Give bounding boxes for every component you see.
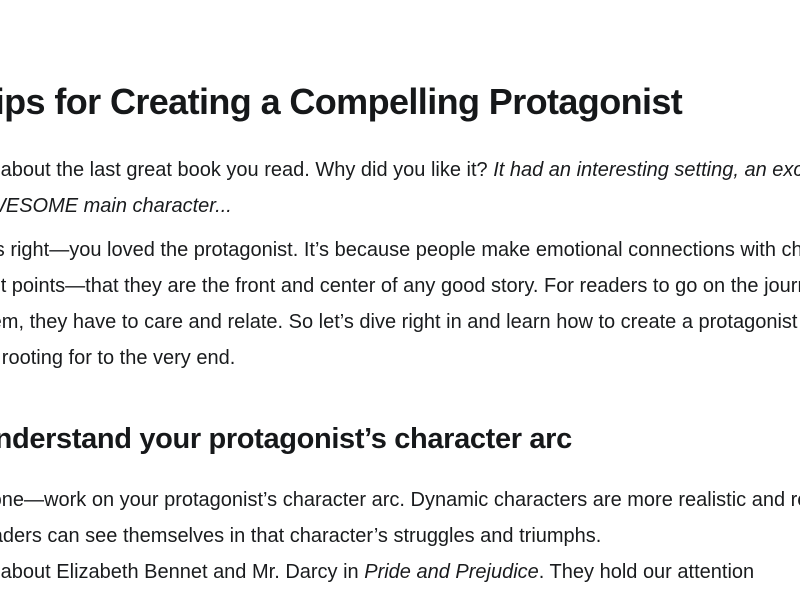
paragraph-intro: nk about the last great book you read. W… (0, 152, 800, 224)
paragraph-step-one: p one—work on your protagonist’s charact… (0, 482, 800, 554)
article-viewport: Tips for Creating a Compelling Protagoni… (0, 0, 800, 600)
paragraph-emotional-connection: at’s right—you loved the protagonist. It… (0, 232, 800, 376)
paragraph-second-lead: at’s right—you loved the protagonist. It… (0, 239, 800, 369)
paragraph-pride-and-prejudice: nk about Elizabeth Bennet and Mr. Darcy … (0, 554, 800, 590)
paragraph-darcy-emphasis: Pride and Prejudice (364, 561, 539, 583)
paragraph-step-lead: p one—work on your protagonist’s charact… (0, 489, 800, 547)
section-heading-character-arc: Understand your protagonist’s character … (0, 420, 800, 458)
page-title: Tips for Creating a Compelling Protagoni… (0, 80, 800, 124)
paragraph-intro-lead: nk about the last great book you read. W… (0, 159, 493, 181)
paragraph-darcy-trailing: . They hold our attention (539, 561, 754, 583)
paragraph-darcy-lead: nk about Elizabeth Bennet and Mr. Darcy … (0, 561, 364, 583)
